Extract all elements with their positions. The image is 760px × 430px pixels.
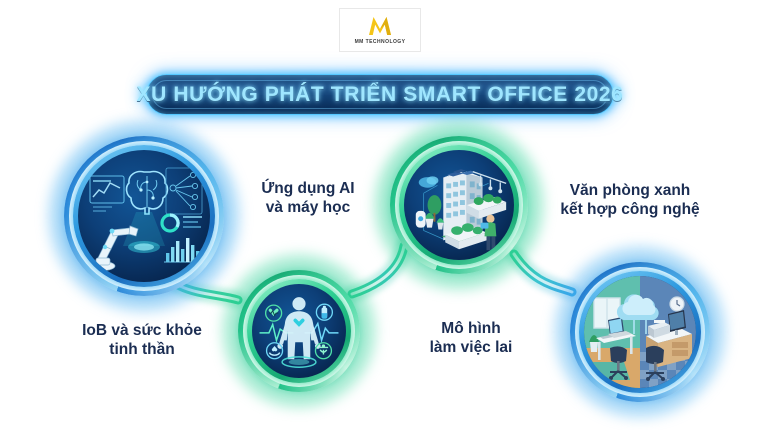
label-ai-machine-learning: Ứng dụng AI và máy học xyxy=(233,180,383,218)
logo-wordmark: MM TECHNOLOGY xyxy=(355,39,406,45)
green-building-plants-icon xyxy=(404,150,514,260)
mm-logo-icon xyxy=(367,16,393,36)
home-office-cloud-icon xyxy=(584,276,696,388)
node-iob-mental-health[interactable] xyxy=(238,270,360,392)
human-body-health-icon xyxy=(252,284,346,378)
infographic-canvas: MM TECHNOLOGY XU HƯỚNG PHÁT TRIỂN SMART … xyxy=(0,0,760,430)
node-hybrid-work-model[interactable] xyxy=(570,262,710,402)
title-banner: XU HƯỚNG PHÁT TRIỂN SMART OFFICE 2026 xyxy=(142,70,618,119)
label-iob-mental-health: IoB và sức khỏe tinh thần xyxy=(62,322,222,360)
ai-brain-robot-arm-icon xyxy=(78,150,210,282)
label-green-office-technology: Văn phòng xanh kết hợp công nghệ xyxy=(538,182,722,220)
label-hybrid-work-model: Mô hình làm việc lai xyxy=(396,320,546,358)
page-title: XU HƯỚNG PHÁT TRIỂN SMART OFFICE 2026 xyxy=(142,70,618,119)
node-ai-machine-learning[interactable] xyxy=(64,136,224,296)
node-green-office-technology[interactable] xyxy=(390,136,528,274)
logo-box: MM TECHNOLOGY xyxy=(339,8,421,52)
